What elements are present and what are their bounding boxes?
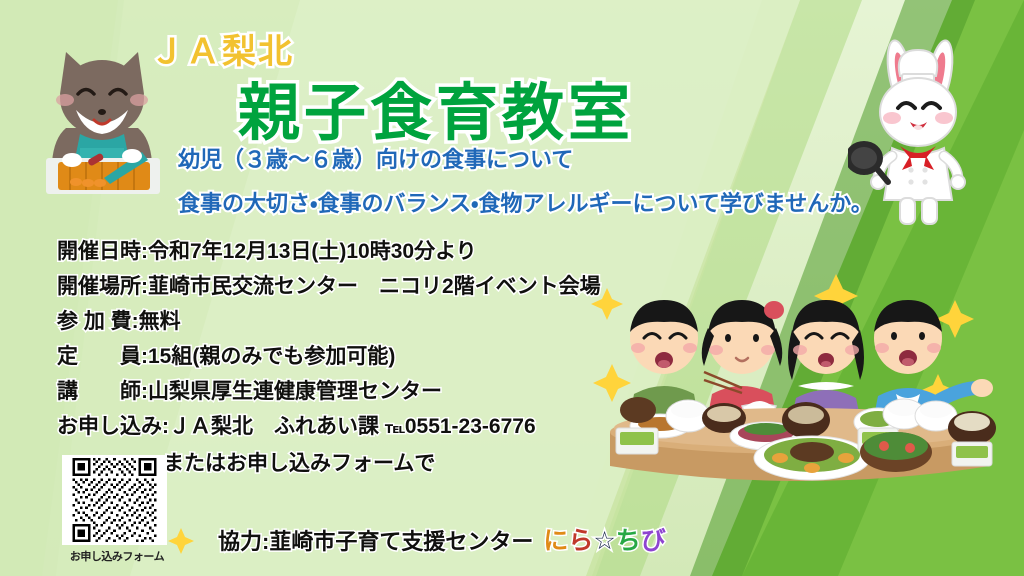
family-eating-illustration xyxy=(600,276,1000,528)
detail-label: 開催日時 xyxy=(57,234,141,269)
application-value: ＪＡ梨北 ふれあい課 xyxy=(169,415,379,438)
telephone-number[interactable]: 0551-23-6776 xyxy=(405,415,536,438)
credit-prefix: 協力:韮崎市子育て支援センター xyxy=(218,529,533,554)
application-form-qr-block[interactable]: お申し込みフォーム xyxy=(62,455,172,564)
detail-row-fee: 参 加 費:無料 xyxy=(57,304,601,339)
detail-row-datetime: 開催日時:令和7年12月13日(土)10時30分より xyxy=(57,234,601,269)
subtitle-line-2: 食事の大切さ・食事のバランス・食物アレルギーについて学びませんか。 xyxy=(178,186,873,218)
detail-row-application: お申し込み:ＪＡ梨北 ふれあい課 ℡0551-23-6776 xyxy=(57,409,601,446)
logo-char-1: ら xyxy=(568,527,593,555)
detail-label: 参 加 費 xyxy=(57,304,132,339)
logo-char-3: ち xyxy=(616,527,641,555)
detail-label: 講 師 xyxy=(57,374,141,409)
detail-label: 定 員 xyxy=(57,339,141,374)
detail-value: 山梨県厚生連健康管理センター xyxy=(148,380,442,403)
credit-line: 協力:韮崎市子育て支援センターにら☆ちび xyxy=(218,521,666,557)
detail-value: 韮崎市民交流センター ニコリ2階イベント会場 xyxy=(148,275,601,298)
event-details-list: 開催日時:令和7年12月13日(土)10時30分より 開催場所:韮崎市民交流セン… xyxy=(57,234,601,481)
telephone-icon: ℡ xyxy=(385,420,405,437)
qr-caption: お申し込みフォーム xyxy=(62,548,172,564)
qr-code-image[interactable] xyxy=(62,455,167,545)
page-title: 親子食育教室 xyxy=(238,62,634,152)
detail-value: 15組(親のみでも参加可能) xyxy=(148,345,395,368)
logo-char-2: ☆ xyxy=(593,527,615,555)
detail-value: 無料 xyxy=(139,310,181,333)
application-label: お申し込み xyxy=(57,409,162,444)
poster-canvas: ＪＡ梨北 親子食育教室 幼児（３歳～６歳）向けの食事について 食事の大切さ・食事… xyxy=(0,0,1024,576)
logo-char-0: に xyxy=(543,527,568,555)
detail-row-instructor: 講 師:山梨県厚生連健康管理センター xyxy=(57,374,601,409)
detail-row-venue: 開催場所:韮崎市民交流センター ニコリ2階イベント会場 xyxy=(57,269,601,304)
logo-char-4: び xyxy=(641,527,666,555)
nirachibi-logo: にら☆ちび xyxy=(543,527,665,555)
subtitle-line-1: 幼児（３歳～６歳）向けの食事について xyxy=(178,142,573,174)
detail-label: 開催場所 xyxy=(57,269,141,304)
detail-value: 令和7年12月13日(土)10時30分より xyxy=(148,240,477,263)
detail-row-capacity: 定 員:15組(親のみでも参加可能) xyxy=(57,339,601,374)
